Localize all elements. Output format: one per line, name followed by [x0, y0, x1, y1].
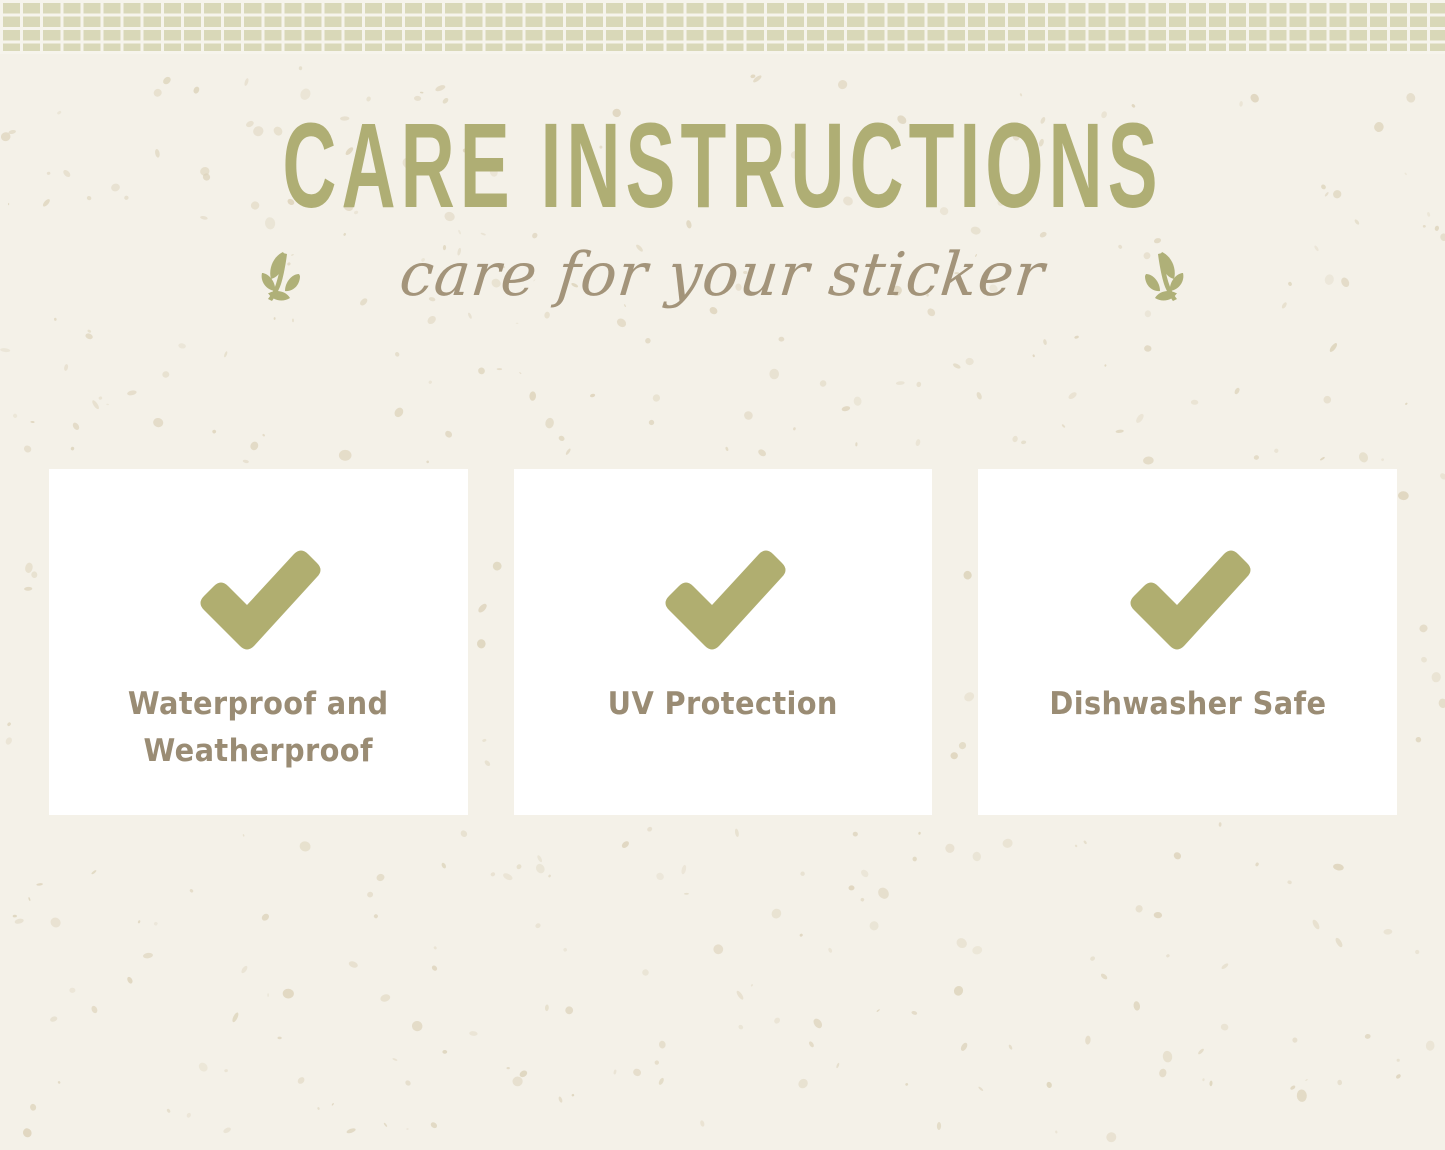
- subtitle-row: care for your sticker: [0, 244, 1445, 307]
- page-title: CARE INSTRUCTIONS: [202, 106, 1242, 227]
- checkmark-icon: [190, 541, 326, 651]
- feature-card[interactable]: Waterproof and Weatherproof: [49, 469, 468, 815]
- leaf-sprig-icon: [1137, 246, 1193, 306]
- page-subtitle: care for your sticker: [397, 244, 1048, 307]
- feature-card-label: UV Protection: [608, 681, 838, 728]
- checkmark-icon: [1120, 541, 1256, 651]
- feature-card[interactable]: Dishwasher Safe: [978, 469, 1397, 815]
- poster-header: CARE INSTRUCTIONS care for your sticker: [0, 54, 1445, 307]
- feature-card-list: Waterproof and Weatherproof UV Protectio…: [49, 469, 1397, 815]
- feature-card-label: Dishwasher Safe: [1049, 681, 1326, 728]
- top-grid-band: [0, 0, 1445, 54]
- leaf-sprig-icon: [252, 246, 308, 306]
- feature-card-label: Waterproof and Weatherproof: [87, 681, 430, 774]
- care-instructions-poster: CARE INSTRUCTIONS care for your sticker: [0, 0, 1445, 1150]
- checkmark-icon: [655, 541, 791, 651]
- feature-card[interactable]: UV Protection: [514, 469, 933, 815]
